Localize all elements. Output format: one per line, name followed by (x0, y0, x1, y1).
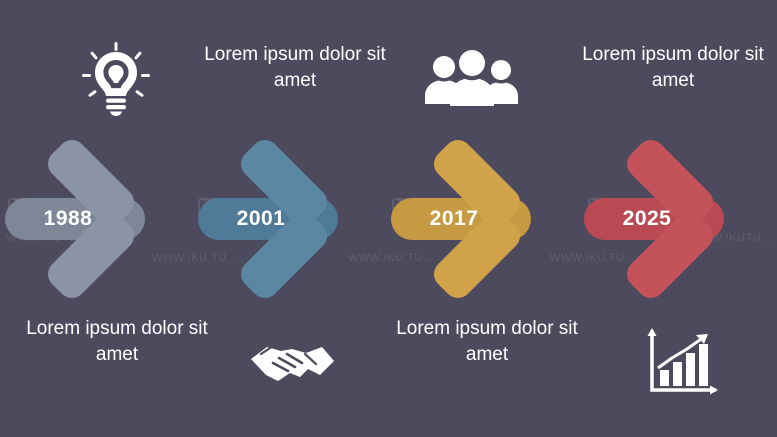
timeline-year-2025: 2025 (584, 198, 710, 240)
lightbulb-icon (56, 34, 176, 124)
timeline-arrow-row: 1988 2001 2017 2025 (0, 148, 777, 290)
timeline-year-2017: 2017 (391, 198, 517, 240)
handshake-icon (232, 320, 352, 410)
infographic-canvas: 酷 图网 酷 图网 酷 图网 酷 图网 WWW.IKUTU... WWW.IKU… (0, 0, 777, 437)
people-group-icon (412, 34, 532, 124)
step-text-top-1: Lorem ipsum dolor sit amet (200, 42, 390, 94)
step-text-bottom-2: Lorem ipsum dolor sit amet (392, 316, 582, 368)
step-text-top-2: Lorem ipsum dolor sit amet (578, 42, 768, 94)
timeline-step-2017[interactable]: 2017 (391, 148, 581, 290)
timeline-step-1988[interactable]: 1988 (5, 148, 195, 290)
growth-bar-chart-icon (620, 318, 740, 408)
step-text-bottom-1: Lorem ipsum dolor sit amet (22, 316, 212, 368)
timeline-step-2001[interactable]: 2001 (198, 148, 388, 290)
timeline-year-1988: 1988 (5, 198, 131, 240)
timeline-year-2001: 2001 (198, 198, 324, 240)
timeline-step-2025[interactable]: 2025 (584, 148, 774, 290)
